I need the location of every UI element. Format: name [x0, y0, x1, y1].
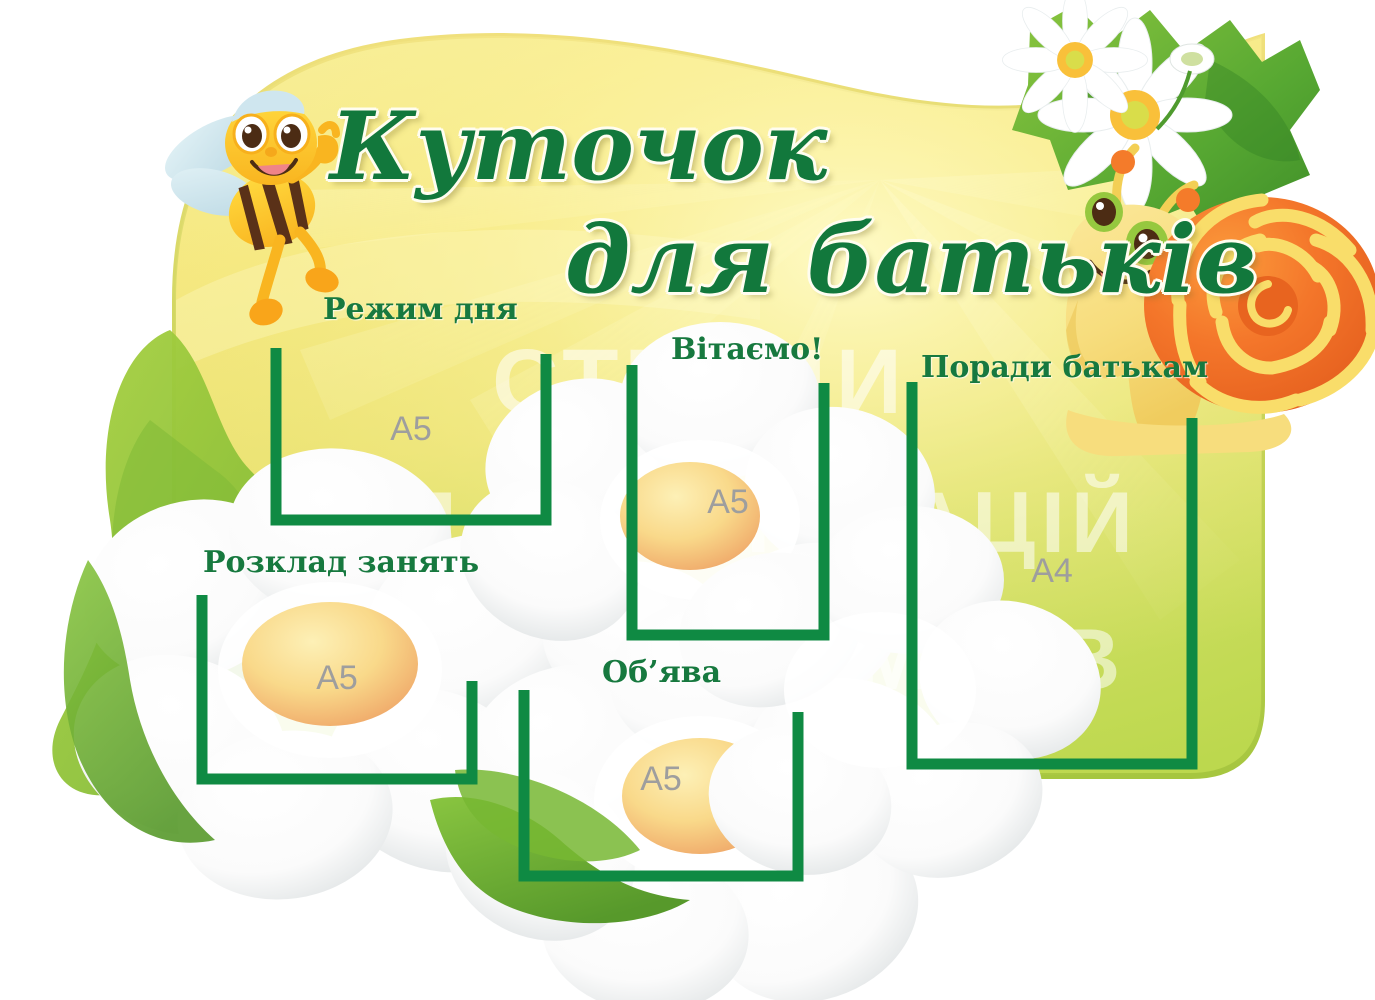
pocket-format-label: A5	[270, 410, 552, 449]
pocket-rozklad-zanyat[interactable]: A5	[196, 595, 478, 785]
pocket-format-label: A5	[626, 483, 830, 522]
pocket-format-label: A5	[196, 659, 478, 698]
pocket-vitayemo[interactable]: A5	[626, 365, 830, 641]
pocket-format-label: A4	[906, 552, 1198, 591]
pocket-obyava[interactable]: A5	[518, 690, 804, 882]
pocket-porady-batkam[interactable]: A4	[906, 382, 1198, 770]
pocket-rezhym-dnya[interactable]: A5	[270, 348, 552, 526]
stand-poster: СТЕНДИ ДЛЯ ОРГАНІЗАЦІЙ ТА ПІДПРИЄМСТВ	[0, 0, 1375, 1000]
pocket-format-label: A5	[518, 760, 804, 799]
